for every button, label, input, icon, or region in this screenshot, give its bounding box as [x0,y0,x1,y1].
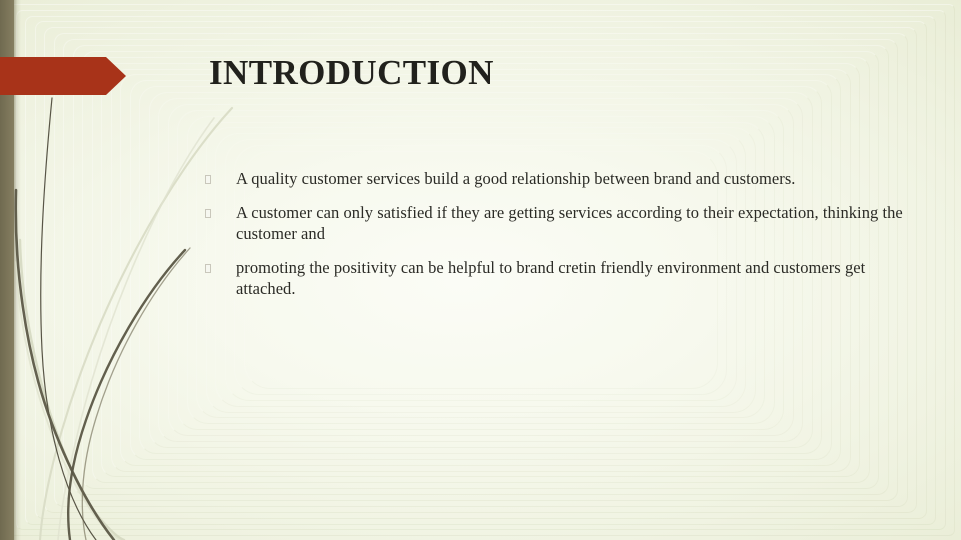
list-item-text: A customer can only satisfied if they ar… [236,202,905,244]
list-item-text: promoting the positivity can be helpful … [236,257,905,299]
arrow-banner-shape [0,57,126,95]
slide-body: A quality customer services build a good… [205,168,905,312]
title-arrow-banner [0,57,126,95]
list-item-text: A quality customer services build a good… [236,168,905,189]
list-item: promoting the positivity can be helpful … [205,257,905,299]
list-item: A quality customer services build a good… [205,168,905,189]
slide-title: INTRODUCTION [209,53,494,93]
bullet-marker-icon [205,175,211,184]
bullet-marker-icon [205,264,211,273]
presentation-slide: INTRODUCTION A quality customer services… [0,0,961,540]
bullet-marker-icon [205,209,211,218]
list-item: A customer can only satisfied if they ar… [205,202,905,244]
